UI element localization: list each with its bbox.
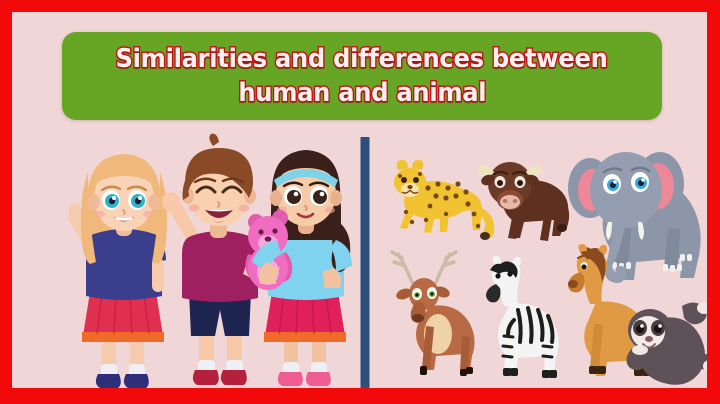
figure-bull [476,146,572,250]
slide-root: Similarities and differences between hum… [0,0,720,404]
figure-deer [386,250,482,382]
humans-panel [12,130,360,388]
page-title-line2: human and animal [238,76,486,110]
figure-sloth [618,290,707,386]
animals-panel [368,130,707,388]
figure-girl-brunette [244,144,366,388]
page-title-line1: Similarities and differences between [116,42,608,76]
figure-zebra [470,260,566,384]
slide-canvas: Similarities and differences between hum… [12,12,707,388]
title-banner: Similarities and differences between hum… [62,32,662,120]
